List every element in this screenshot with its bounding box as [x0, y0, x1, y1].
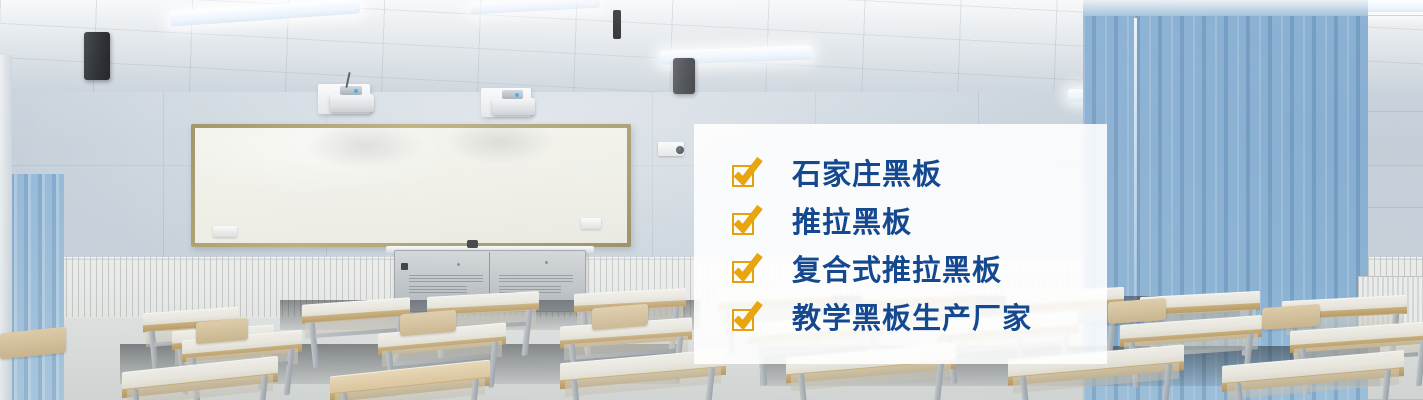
whiteboard-eraser-icon [581, 218, 601, 229]
projector-led-icon [515, 93, 519, 97]
checkbox-checked-icon [732, 258, 758, 284]
student-chair [196, 318, 248, 345]
checkbox-checked-icon [732, 306, 758, 332]
whiteboard-eraser-icon [213, 226, 237, 237]
feature-label: 推拉黑板 [792, 209, 912, 238]
student-chair [1262, 304, 1320, 330]
checkbox-checked-icon [732, 210, 758, 236]
feature-label: 石家庄黑板 [792, 161, 942, 190]
wall-speaker-icon [84, 32, 110, 80]
podium-button-icon [401, 263, 408, 270]
feature-item[interactable]: 石家庄黑板 [694, 151, 1107, 199]
projector-lens-cap [502, 90, 523, 99]
whiteboard-smudge [445, 120, 555, 164]
podium-indicator-icon [457, 263, 460, 266]
checkbox-checked-icon [732, 162, 758, 188]
feature-item[interactable]: 教学黑板生产厂家 [694, 295, 1107, 343]
projector-led-icon [354, 89, 358, 93]
ceiling-sensor-icon [613, 10, 621, 39]
feature-item[interactable]: 推拉黑板 [694, 199, 1107, 247]
whiteboard [191, 124, 631, 247]
wall-speaker-icon [673, 58, 695, 94]
feature-item[interactable]: 复合式推拉黑板 [694, 247, 1107, 295]
podium-indicator-icon [545, 261, 548, 264]
podium-vent-icon [409, 273, 483, 282]
podium-knob-icon [467, 240, 478, 248]
student-chair [1108, 298, 1166, 324]
camera-lens-icon [676, 146, 684, 154]
projector-icon [330, 94, 374, 112]
classroom-banner: 石家庄黑板 推拉黑板 复合式推拉黑板 [0, 0, 1423, 400]
whiteboard-smudge [305, 122, 425, 170]
curtain-rail [1083, 0, 1368, 16]
podium-vent-icon [409, 284, 467, 293]
feature-list: 石家庄黑板 推拉黑板 复合式推拉黑板 [694, 124, 1107, 364]
projector-icon [492, 98, 535, 115]
podium-vent-icon [499, 273, 573, 282]
feature-label: 复合式推拉黑板 [792, 257, 1002, 286]
feature-label: 教学黑板生产厂家 [792, 305, 1032, 334]
projector-lens-cap [340, 86, 362, 95]
whiteboard-surface [195, 128, 627, 243]
